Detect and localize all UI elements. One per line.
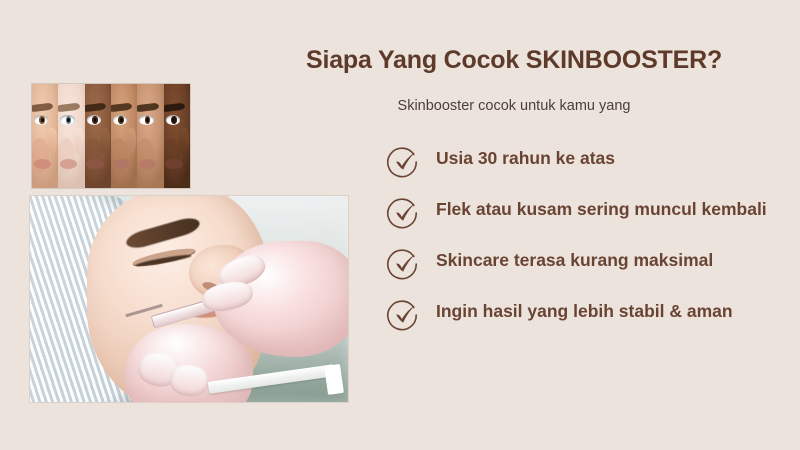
collage-strip-2 [58,84,84,188]
list-item: Usia 30 rahun ke atas [386,143,776,180]
collage-strip-6 [164,84,190,188]
check-circle-icon [386,246,422,282]
list-item: Ingin hasil yang lebih stabil & aman [386,296,776,333]
collage-strip-5 [137,84,163,188]
list-item-label: Flek atau kusam sering muncul kembali [436,194,776,221]
slide-root: Siapa Yang Cocok SKINBOOSTER? Skinbooste… [0,0,800,450]
check-circle-icon [386,144,422,180]
page-title: Siapa Yang Cocok SKINBOOSTER? [258,47,770,75]
list-item-label: Usia 30 rahun ke atas [436,143,776,170]
collage-strip-1 [32,84,58,188]
collage-strip-3 [85,84,111,188]
list-item: Flek atau kusam sering muncul kembali [386,194,776,231]
check-circle-icon [386,195,422,231]
benefits-checklist: Usia 30 rahun ke atas Flek atau kusam se… [386,143,776,333]
list-item-label: Ingin hasil yang lebih stabil & aman [436,296,776,323]
collage-strip-4 [111,84,137,188]
list-item-label: Skincare terasa kurang maksimal [436,245,776,272]
list-item: Skincare terasa kurang maksimal [386,245,776,282]
page-subtitle: Skinbooster cocok untuk kamu yang [258,98,770,115]
diverse-skin-tones-collage [32,84,190,188]
content-column: Siapa Yang Cocok SKINBOOSTER? Skinbooste… [258,0,788,450]
check-circle-icon [386,297,422,333]
